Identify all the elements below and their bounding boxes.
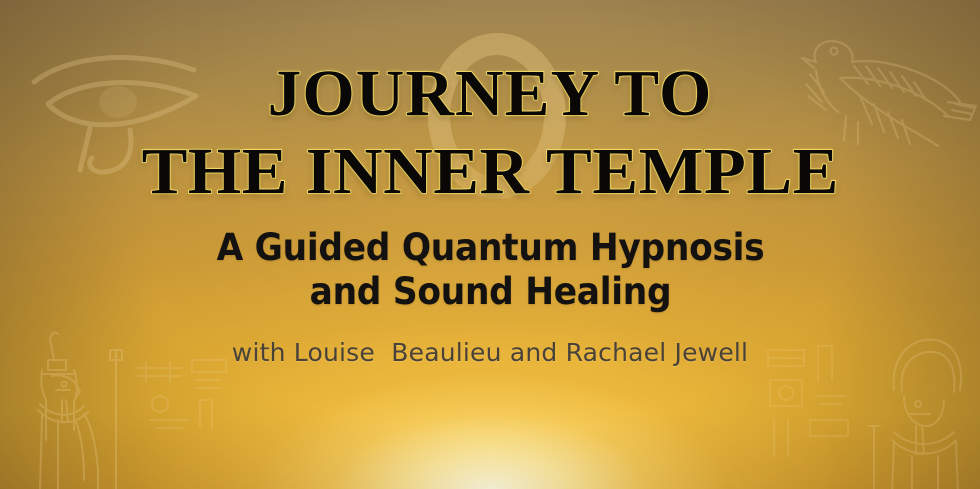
event-banner: JOURNEY TO THE INNER TEMPLE A Guided Qua…	[0, 0, 980, 489]
presenters-byline: with Louise Beaulieu and Rachael Jewell	[232, 338, 748, 367]
page-title-line-1: JOURNEY TO	[268, 62, 713, 127]
banner-content: JOURNEY TO THE INNER TEMPLE A Guided Qua…	[0, 0, 980, 489]
subtitle-line-1: A Guided Quantum Hypnosis	[216, 226, 764, 270]
page-title-line-2: THE INNER TEMPLE	[141, 140, 838, 205]
subtitle: A Guided Quantum Hypnosis and Sound Heal…	[216, 226, 764, 313]
subtitle-line-2: and Sound Healing	[216, 270, 764, 314]
